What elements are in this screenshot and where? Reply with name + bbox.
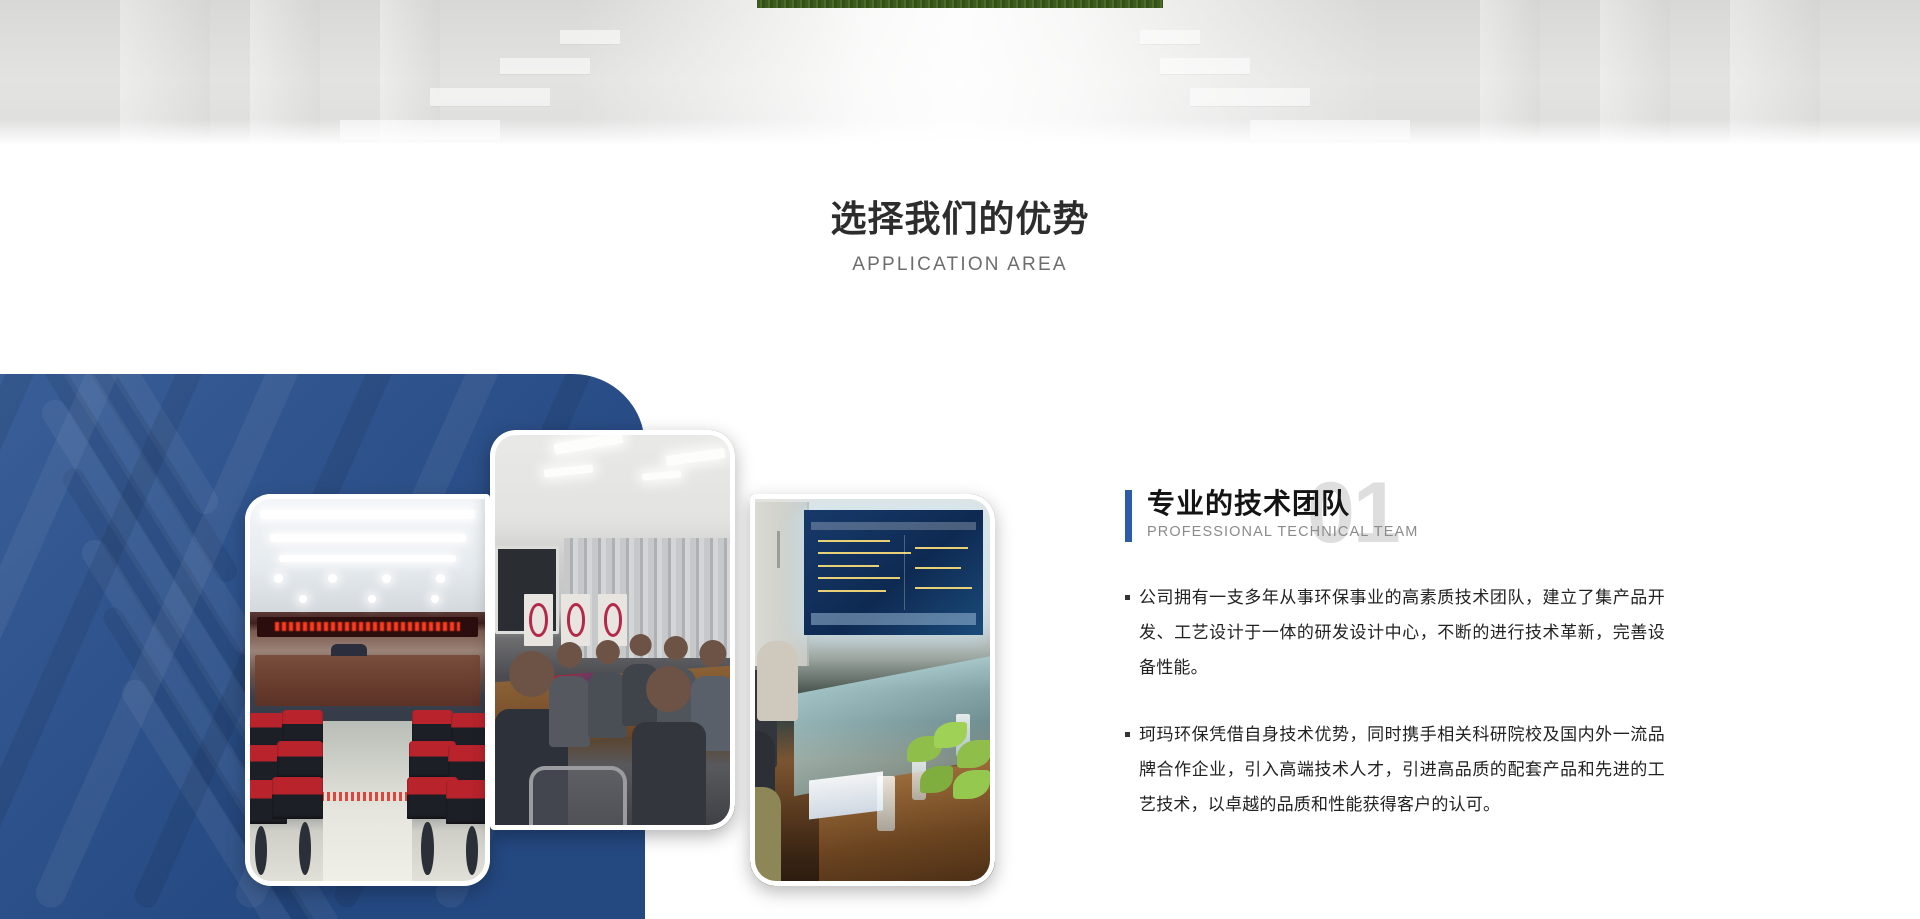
feature-paragraphs: 公司拥有一支多年从事环保事业的高素质技术团队，建立了集产品开发、工艺设计于一体的… — [1125, 580, 1665, 822]
banner-green-strip — [757, 0, 1163, 8]
photo-auditorium-seats — [245, 710, 490, 886]
gallery-photo-projector-review[interactable] — [750, 494, 995, 886]
section-header: 选择我们的优势 APPLICATION AREA — [0, 196, 1920, 276]
photo-auditorium-podium — [255, 655, 480, 706]
gallery-photo-auditorium[interactable] — [245, 494, 490, 886]
hero-banner-image — [0, 0, 1920, 145]
feature-title-en: PROFESSIONAL TECHNICAL TEAM — [1147, 524, 1418, 540]
title-accent-bar — [1125, 490, 1132, 542]
gallery-photo-conference[interactable] — [490, 430, 735, 830]
feature-title-cn: 专业的技术团队 — [1147, 486, 1350, 522]
feature-paragraph-2: 珂玛环保凭借自身技术优势，同时携手相关科研院校及国内外一流品牌合作企业，引入高端… — [1125, 717, 1665, 822]
photo-auditorium-led-banner — [257, 617, 478, 637]
banner-bottom-fade — [0, 119, 1920, 145]
photo-auditorium-ceiling — [245, 494, 490, 612]
photo-conference-chair — [529, 766, 627, 830]
feature-content: 01 专业的技术团队 PROFESSIONAL TECHNICAL TEAM 公… — [1125, 486, 1665, 822]
feature-title-row: 01 专业的技术团队 PROFESSIONAL TECHNICAL TEAM — [1125, 486, 1665, 548]
photo-review-attendees — [750, 651, 843, 886]
section-subtitle: APPLICATION AREA — [0, 254, 1920, 276]
photo-review-plant — [897, 717, 995, 819]
feature-paragraph-1: 公司拥有一支多年从事环保事业的高素质技术团队，建立了集产品开发、工艺设计于一体的… — [1125, 580, 1665, 685]
section-title: 选择我们的优势 — [0, 196, 1920, 242]
